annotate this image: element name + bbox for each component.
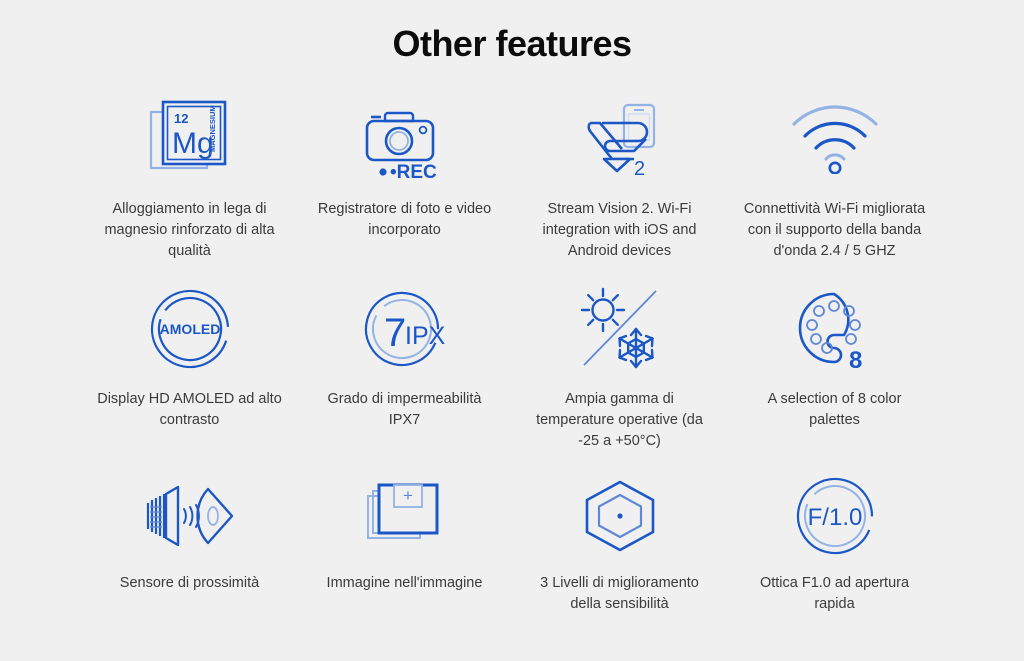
magnesium-number: 12 [174,111,188,126]
page-title: Other features [0,0,1024,65]
color-palette-icon: 8 [780,281,890,377]
ipx7-waterproof-icon: 7 IPX [350,281,460,377]
sun-icon [582,289,624,331]
stream-vision-version-label: 2 [634,158,645,180]
feature-caption: Connettività Wi-Fi migliorata con il sup… [742,199,928,262]
feature-item-amoled-display: AMOLED Display HD AMOLED ad alto contras… [82,281,297,471]
magnesium-name: MAGNESIUM [208,106,217,153]
ipx7-label: IPX [405,322,446,350]
feature-caption: Ampia gamma di temperature operative (da… [527,389,713,452]
feature-item-magnesium: 12 Mg MAGNESIUM Alloggiamento in lega di… [82,91,297,281]
feature-caption: Sensore di prossimità [120,573,259,594]
pip-plus-label: + [403,486,413,505]
feature-item-proximity-sensor: Sensore di prossimità [82,471,297,661]
feature-item-color-palettes: 8 A selection of 8 color palettes [727,281,942,471]
feature-caption: Registratore di foto e video incorporato [312,199,498,241]
feature-caption: Alloggiamento in lega di magnesio rinfor… [97,199,283,262]
feature-caption: Display HD AMOLED ad alto contrasto [97,389,283,431]
feature-item-stream-vision-2: 2 Stream Vision 2. Wi-Fi integration wit… [512,91,727,281]
ipx7-number: 7 [384,311,406,355]
sensitivity-levels-icon [565,471,675,561]
feature-item-picture-in-picture: + Immagine nell'immagine [297,471,512,661]
snowflake-icon [619,329,652,367]
feature-item-temperature-range: Ampia gamma di temperature operative (da… [512,281,727,471]
aperture-f1-icon: F/1.0 [780,471,890,561]
feature-caption: Ottica F1.0 ad apertura rapida [742,573,928,615]
other-features-page: Other features 12 Mg MAGNESIUM Alloggiam… [0,0,1024,652]
camera-rec-label: •REC [390,162,437,182]
feature-item-wifi: Connettività Wi-Fi migliorata con il sup… [727,91,942,281]
picture-in-picture-icon: + [350,471,460,561]
wifi-icon [780,91,890,187]
feature-item-sensitivity-levels: 3 Livelli di miglioramento della sensibi… [512,471,727,661]
magnesium-element-icon: 12 Mg MAGNESIUM [135,91,245,187]
proximity-sensor-icon [135,471,245,561]
feature-caption: Immagine nell'immagine [327,573,483,594]
palette-count-label: 8 [849,347,862,372]
feature-item-waterproof-ipx7: 7 IPX Grado di impermeabilità IPX7 [297,281,512,471]
features-grid: 12 Mg MAGNESIUM Alloggiamento in lega di… [82,91,942,661]
amoled-label: AMOLED [159,321,220,337]
amoled-display-icon: AMOLED [135,281,245,377]
feature-caption: Stream Vision 2. Wi-Fi integration with … [527,199,713,262]
temperature-range-icon [565,281,675,377]
feature-item-aperture-f1: F/1.0 Ottica F1.0 ad apertura rapida [727,471,942,661]
stream-vision-2-icon: 2 [565,91,675,187]
feature-caption: A selection of 8 color palettes [742,389,928,431]
aperture-label: F/1.0 [807,504,862,531]
camera-rec-icon: •REC [350,91,460,187]
feature-caption: 3 Livelli di miglioramento della sensibi… [527,573,713,615]
feature-caption: Grado di impermeabilità IPX7 [312,389,498,431]
feature-item-photo-video-recorder: •REC Registratore di foto e video incorp… [297,91,512,281]
